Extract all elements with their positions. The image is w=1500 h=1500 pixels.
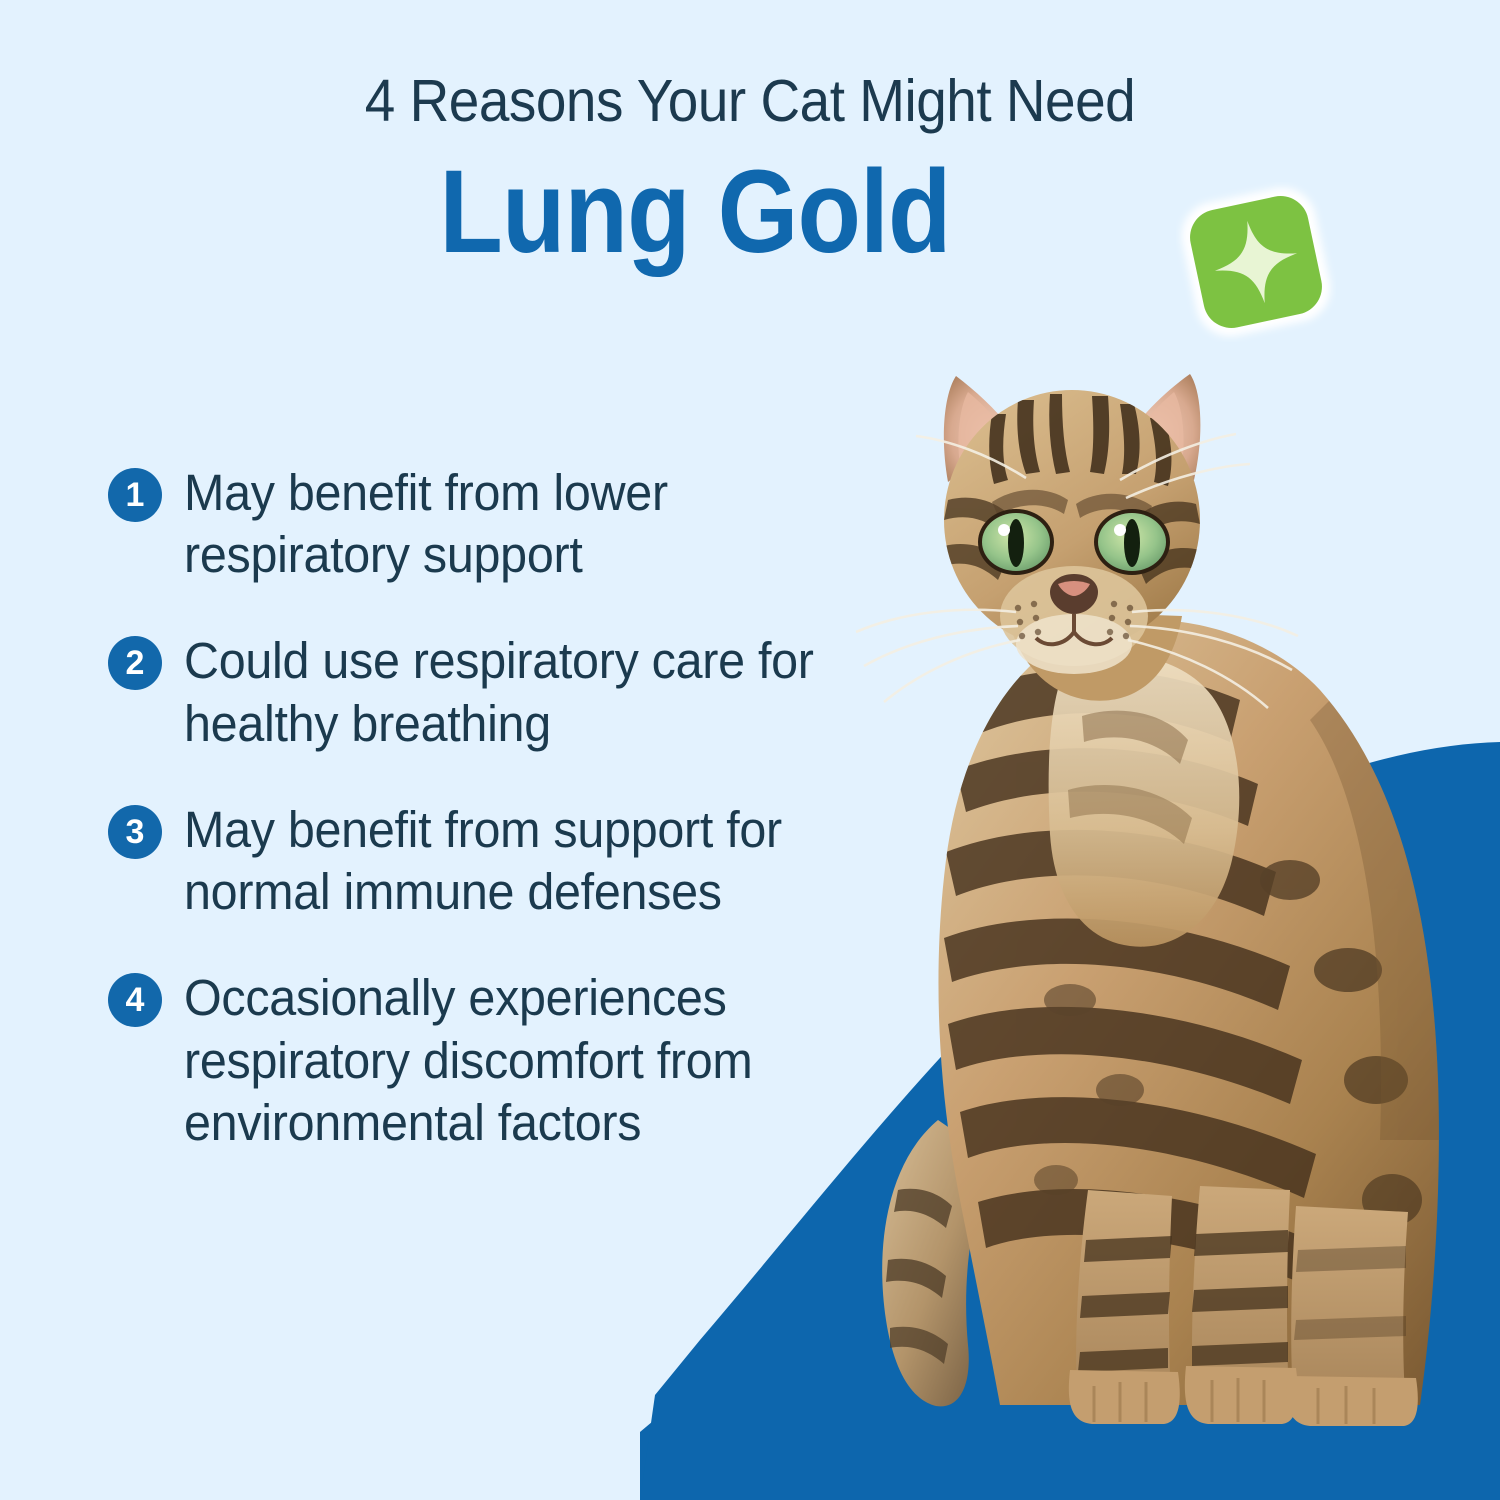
cat-paws [1069,1366,1418,1426]
reason-number-badge: 3 [108,805,162,859]
cat-body [938,620,1444,1426]
reason-number-badge: 2 [108,636,162,690]
cat-tail [882,1120,996,1406]
list-item: 1 May benefit from lower respiratory sup… [108,462,898,586]
reason-number-badge: 4 [108,973,162,1027]
cat-neck [1006,610,1182,701]
cat-ears [944,374,1201,482]
cat-eyes [978,509,1170,575]
reason-text: May benefit from support for normal immu… [184,799,862,923]
page-eyebrow: 4 Reasons Your Cat Might Need [53,72,1448,131]
cat-photo [820,360,1460,1435]
reason-text: Could use respiratory care for healthy b… [184,630,862,754]
list-item: 4 Occasionally experiences respiratory d… [108,967,898,1154]
page-title: Lung Gold [35,153,1355,271]
reason-text: May benefit from lower respiratory suppo… [184,462,862,586]
reasons-list: 1 May benefit from lower respiratory sup… [108,462,898,1154]
list-item: 3 May benefit from support for normal im… [108,799,898,923]
cat-head [856,390,1298,708]
list-item: 2 Could use respiratory care for healthy… [108,630,898,754]
poster-root: 4 Reasons Your Cat Might Need Lung Gold … [0,0,1500,1500]
cat-whiskers [856,434,1298,708]
reason-text: Occasionally experiences respiratory dis… [184,967,862,1154]
reason-number-badge: 1 [108,468,162,522]
brand-badge [1176,182,1336,342]
cat-nose [1050,574,1098,614]
